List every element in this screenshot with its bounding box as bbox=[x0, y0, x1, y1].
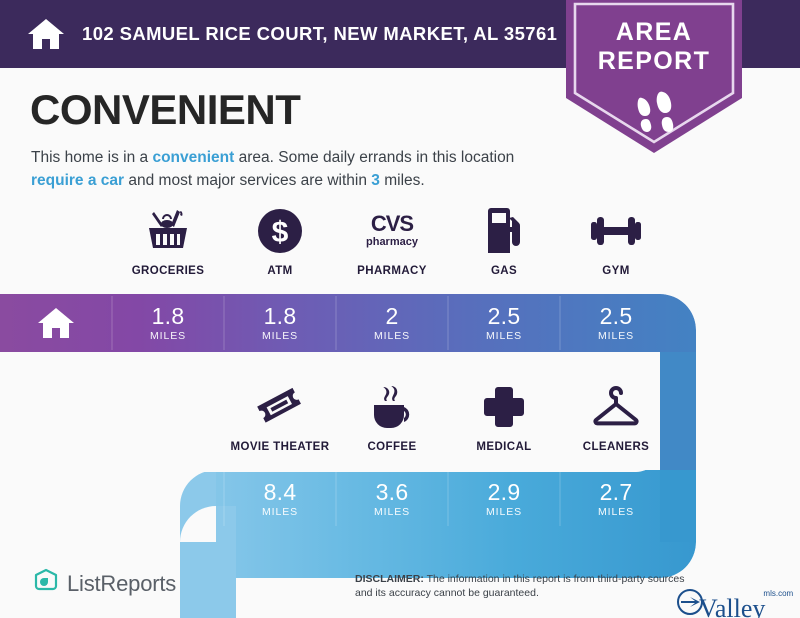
valley-mls-brand: Valley mls.com bbox=[676, 588, 793, 618]
valley-mls-tld: mls.com bbox=[763, 589, 793, 598]
distance-cell: 1.8 MILES bbox=[224, 294, 336, 352]
amenity-cleaners: CLEANERS bbox=[560, 382, 672, 453]
distance-value: 1.8 bbox=[152, 304, 185, 329]
distance-cell: 2 MILES bbox=[336, 294, 448, 352]
distance-unit: MILES bbox=[598, 330, 634, 342]
badge-line-1: AREA bbox=[566, 18, 742, 47]
listreports-logo-icon bbox=[33, 568, 59, 599]
distance-value: 8.4 bbox=[264, 480, 297, 505]
distance-value: 2.7 bbox=[600, 480, 633, 505]
distance-cell: 1.8 MILES bbox=[112, 294, 224, 352]
clothes-hanger-icon bbox=[589, 382, 643, 432]
distance-value: 2 bbox=[385, 304, 398, 329]
distance-unit: MILES bbox=[486, 330, 522, 342]
amenity-label: COFFEE bbox=[367, 441, 416, 453]
amenity-icons-row-2: MOVIE THEATER COFFEE bbox=[224, 382, 672, 453]
area-report-page: 102 SAMUEL RICE COURT, NEW MARKET, AL 35… bbox=[0, 0, 800, 618]
distance-unit: MILES bbox=[374, 330, 410, 342]
valley-mls-name: Valley bbox=[699, 597, 765, 618]
listreports-brand: ListReports bbox=[33, 568, 176, 599]
distance-cell: 2.9 MILES bbox=[448, 470, 560, 528]
distance-unit: MILES bbox=[486, 506, 522, 518]
distance-cell: 8.4 MILES bbox=[224, 470, 336, 528]
disclaimer-label: DISCLAIMER: bbox=[355, 573, 424, 585]
amenity-medical: MEDICAL bbox=[448, 382, 560, 453]
badge-label: AREA REPORT bbox=[566, 18, 742, 76]
amenity-coffee: COFFEE bbox=[336, 382, 448, 453]
home-origin-cell bbox=[0, 294, 112, 352]
distance-unit: MILES bbox=[262, 506, 298, 518]
distance-unit: MILES bbox=[150, 330, 186, 342]
medical-cross-icon bbox=[482, 382, 526, 432]
area-report-badge: AREA REPORT bbox=[566, 0, 742, 153]
distance-value: 2.5 bbox=[488, 304, 521, 329]
distance-cell: 3.6 MILES bbox=[336, 470, 448, 528]
distance-value: 3.6 bbox=[376, 480, 409, 505]
distance-cell: 2.5 MILES bbox=[560, 294, 672, 352]
distance-value: 1.8 bbox=[264, 304, 297, 329]
distance-values-row-1: 1.8 MILES 1.8 MILES 2 MILES 2.5 MILES 2.… bbox=[112, 294, 672, 352]
movie-ticket-icon bbox=[255, 382, 305, 432]
amenity-label: MOVIE THEATER bbox=[231, 441, 330, 453]
amenity-label: MEDICAL bbox=[476, 441, 531, 453]
distance-values-row-2: 8.4 MILES 3.6 MILES 2.9 MILES 2.7 MILES bbox=[224, 470, 672, 528]
distance-unit: MILES bbox=[374, 506, 410, 518]
coffee-cup-icon bbox=[367, 382, 417, 432]
distance-cell: 2.7 MILES bbox=[560, 470, 672, 528]
ribbon-white-left bbox=[0, 352, 150, 470]
listreports-name: ListReports bbox=[67, 571, 176, 597]
amenity-label: CLEANERS bbox=[583, 441, 649, 453]
amenity-movie-theater: MOVIE THEATER bbox=[224, 382, 336, 453]
distance-value: 2.5 bbox=[600, 304, 633, 329]
disclaimer: DISCLAIMER: The information in this repo… bbox=[355, 572, 700, 600]
distance-cell: 2.5 MILES bbox=[448, 294, 560, 352]
badge-line-2: REPORT bbox=[566, 47, 742, 76]
distance-unit: MILES bbox=[262, 330, 298, 342]
distance-value: 2.9 bbox=[488, 480, 521, 505]
distance-unit: MILES bbox=[598, 506, 634, 518]
